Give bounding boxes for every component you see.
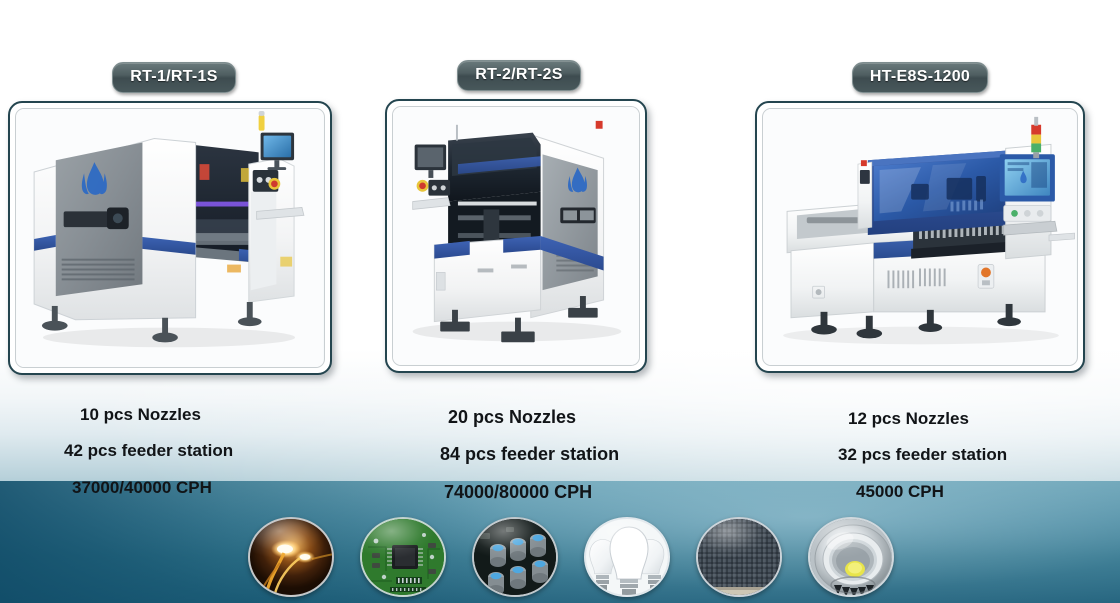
machine-photo-rt-2 xyxy=(393,107,639,365)
capacitor-pcb-icon xyxy=(472,517,558,597)
model-badge-rt-2[interactable]: RT-2/RT-2S xyxy=(457,60,580,91)
spec-nozzles: 20 pcs Nozzles xyxy=(448,408,619,426)
spec-feeders: 84 pcs feeder station xyxy=(440,445,619,463)
spec-speed: 37000/40000 CPH xyxy=(72,479,233,496)
model-badge-row: HT-E8S-1200 xyxy=(755,62,1085,93)
product-photo-frame-rt-2[interactable] xyxy=(385,99,647,373)
spec-speed: 45000 CPH xyxy=(856,483,1007,500)
spec-feeders: 42 pcs feeder station xyxy=(64,442,233,459)
product-photo-frame-rt-1[interactable] xyxy=(8,101,332,375)
spec-nozzles: 12 pcs Nozzles xyxy=(848,410,1007,427)
filament-lamp-icon xyxy=(248,517,334,597)
spec-nozzles: 10 pcs Nozzles xyxy=(80,406,233,423)
application-icon-strip xyxy=(0,517,1120,597)
photo-inner-bevel xyxy=(392,106,640,366)
spec-feeders: 32 pcs feeder station xyxy=(838,446,1007,463)
model-badge-rt-1[interactable]: RT-1/RT-1S xyxy=(112,62,235,93)
cob-downlight-icon xyxy=(808,517,894,597)
machine-photo-rt-1 xyxy=(16,109,324,367)
photo-inner-bevel xyxy=(15,108,325,368)
led-bulbs-icon xyxy=(584,517,670,597)
spec-block-rt-1: 10 pcs Nozzles 42 pcs feeder station 370… xyxy=(64,406,233,496)
spec-block-rt-2: 20 pcs Nozzles 84 pcs feeder station 740… xyxy=(440,408,619,501)
led-display-icon xyxy=(696,517,782,597)
product-comparison-page: RT-1/RT-1S xyxy=(0,0,1120,603)
model-badge-row: RT-2/RT-2S xyxy=(385,60,653,91)
spec-speed: 74000/80000 CPH xyxy=(444,483,619,501)
spec-block-ht-e8s-1200: 12 pcs Nozzles 32 pcs feeder station 450… xyxy=(838,410,1007,500)
model-badge-row: RT-1/RT-1S xyxy=(8,62,340,93)
product-photo-frame-ht-e8s-1200[interactable] xyxy=(755,101,1085,373)
machine-photo-ht-e8s-1200 xyxy=(763,109,1077,365)
model-badge-ht-e8s-1200[interactable]: HT-E8S-1200 xyxy=(852,62,988,93)
green-pcb-icon xyxy=(360,517,446,597)
photo-inner-bevel xyxy=(762,108,1078,366)
